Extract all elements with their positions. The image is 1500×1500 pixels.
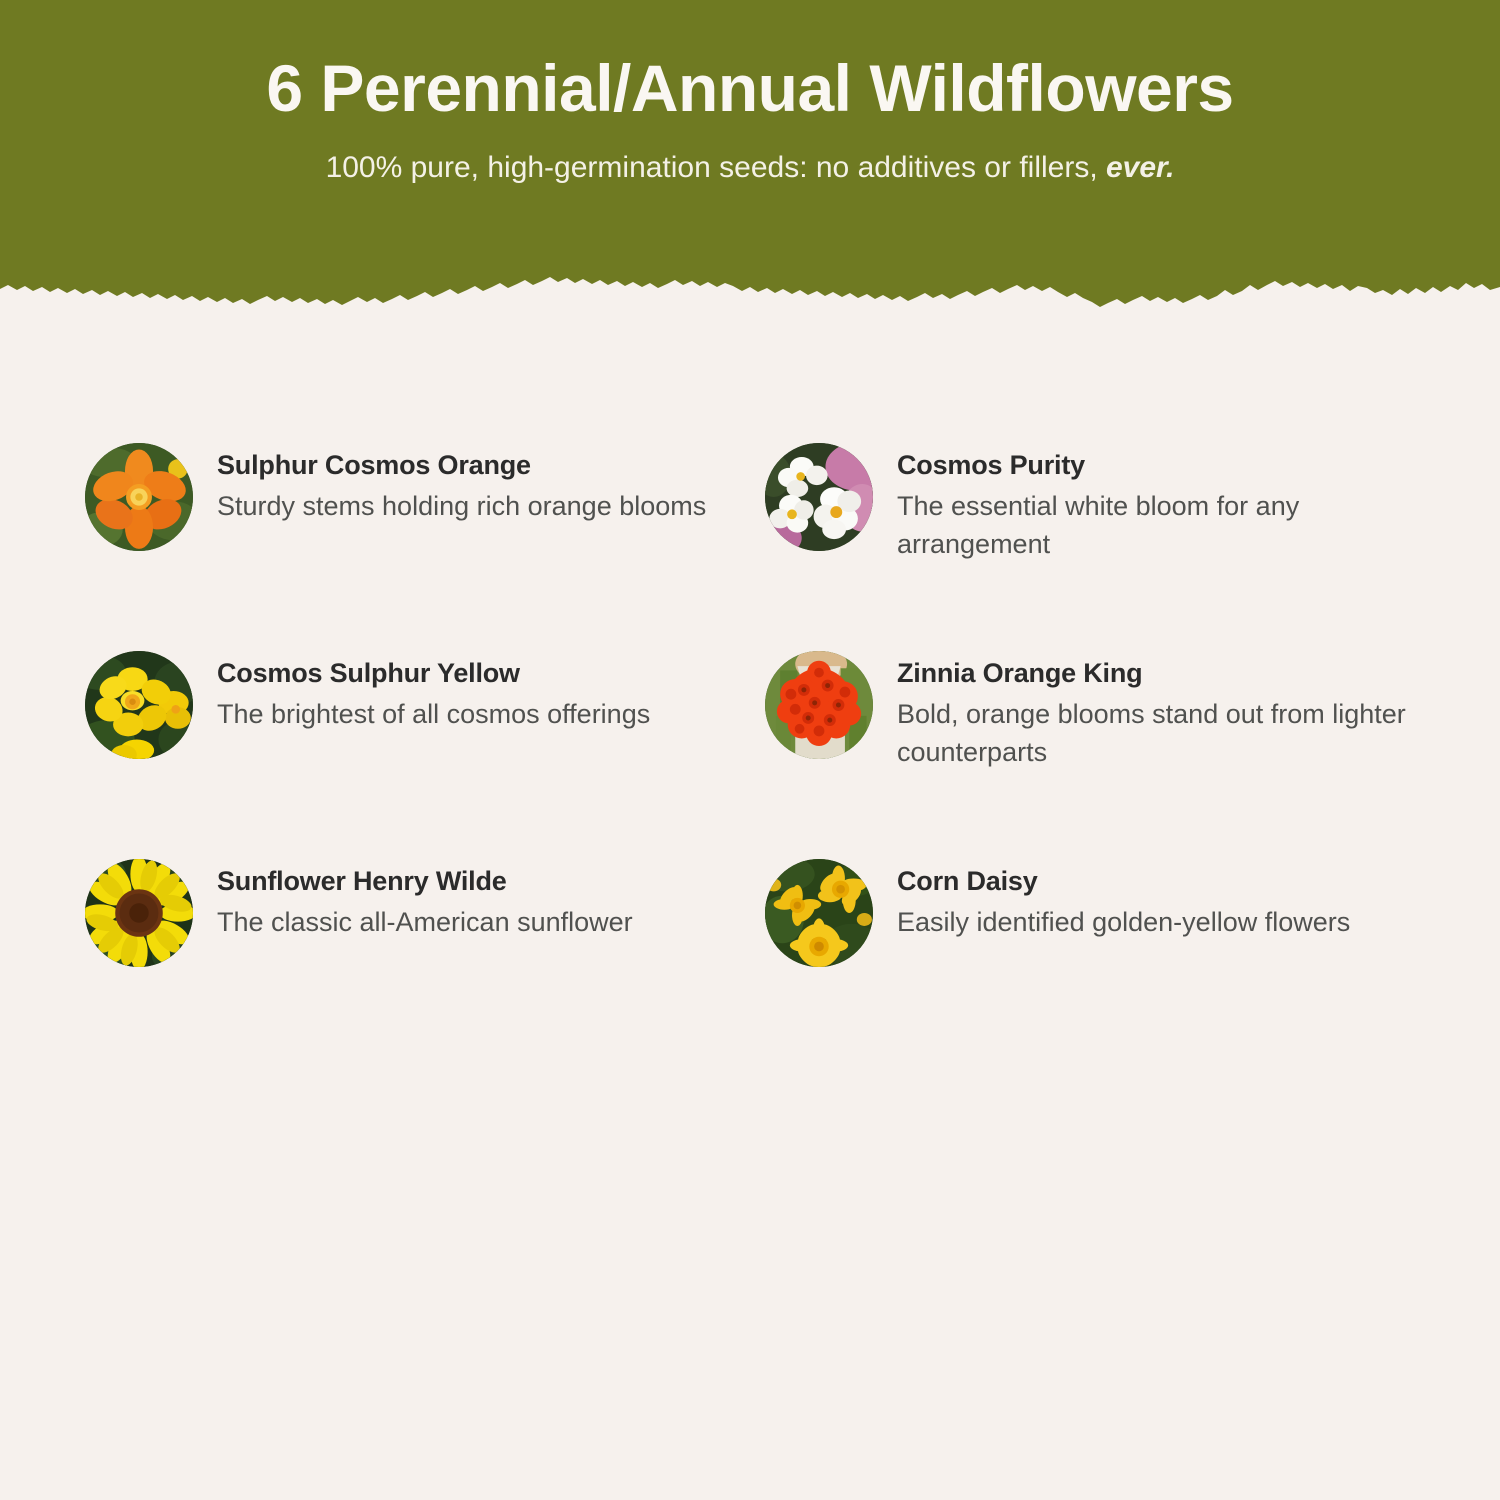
product-info-graphic: 6 Perennial/Annual Wildflowers 100% pure…	[0, 0, 1500, 1500]
flower-description: Bold, orange blooms stand out from light…	[897, 695, 1437, 772]
flower-grid: Sulphur Cosmos Orange Sturdy stems holdi…	[0, 437, 1500, 1061]
flower-image-icon	[765, 859, 873, 967]
flower-text-block: Cosmos Purity The essential white bloom …	[897, 437, 1437, 563]
flower-image-icon	[85, 651, 193, 759]
flower-image-icon	[85, 859, 193, 967]
zinnia-orange-king-thumbnail	[765, 651, 873, 759]
flower-description: Sturdy stems holding rich orange blooms	[217, 487, 706, 525]
flower-name: Cosmos Purity	[897, 449, 1437, 483]
list-item: Zinnia Orange King Bold, orange blooms s…	[765, 645, 1445, 853]
list-item: Cosmos Purity The essential white bloom …	[765, 437, 1445, 645]
flower-description: Easily identified golden-yellow flowers	[897, 903, 1350, 941]
torn-paper-edge	[0, 257, 1500, 312]
header-content: 6 Perennial/Annual Wildflowers 100% pure…	[0, 0, 1500, 187]
subtitle-main-text: 100% pure, high-germination seeds: no ad…	[326, 151, 1098, 184]
flower-text-block: Cosmos Sulphur Yellow The brightest of a…	[217, 645, 650, 733]
flower-name: Cosmos Sulphur Yellow	[217, 657, 650, 691]
flower-description: The essential white bloom for any arrang…	[897, 487, 1437, 564]
flower-text-block: Sunflower Henry Wilde The classic all-Am…	[217, 853, 633, 941]
subtitle-emphasis-text: ever.	[1106, 151, 1174, 184]
cosmos-purity-thumbnail	[765, 443, 873, 551]
flower-name: Zinnia Orange King	[897, 657, 1437, 691]
flower-text-block: Sulphur Cosmos Orange Sturdy stems holdi…	[217, 437, 706, 525]
flower-description: The classic all-American sunflower	[217, 903, 633, 941]
header-banner: 6 Perennial/Annual Wildflowers 100% pure…	[0, 0, 1500, 312]
list-item: Sulphur Cosmos Orange Sturdy stems holdi…	[85, 437, 765, 645]
flower-text-block: Corn Daisy Easily identified golden-yell…	[897, 853, 1350, 941]
flower-name: Corn Daisy	[897, 865, 1350, 899]
page-title: 6 Perennial/Annual Wildflowers	[0, 52, 1500, 126]
sulphur-cosmos-orange-thumbnail	[85, 443, 193, 551]
flower-list: Sulphur Cosmos Orange Sturdy stems holdi…	[0, 437, 1500, 1061]
flower-image-icon	[765, 443, 873, 551]
flower-name: Sunflower Henry Wilde	[217, 865, 633, 899]
flower-text-block: Zinnia Orange King Bold, orange blooms s…	[897, 645, 1437, 771]
flower-name: Sulphur Cosmos Orange	[217, 449, 706, 483]
list-item: Sunflower Henry Wilde The classic all-Am…	[85, 853, 765, 1061]
flower-image-icon	[85, 443, 193, 551]
sunflower-henry-wilde-thumbnail	[85, 859, 193, 967]
page-subtitle: 100% pure, high-germination seeds: no ad…	[0, 148, 1500, 187]
list-item: Cosmos Sulphur Yellow The brightest of a…	[85, 645, 765, 853]
corn-daisy-thumbnail	[765, 859, 873, 967]
flower-description: The brightest of all cosmos offerings	[217, 695, 650, 733]
cosmos-sulphur-yellow-thumbnail	[85, 651, 193, 759]
flower-image-icon	[765, 651, 873, 759]
list-item: Corn Daisy Easily identified golden-yell…	[765, 853, 1445, 1061]
